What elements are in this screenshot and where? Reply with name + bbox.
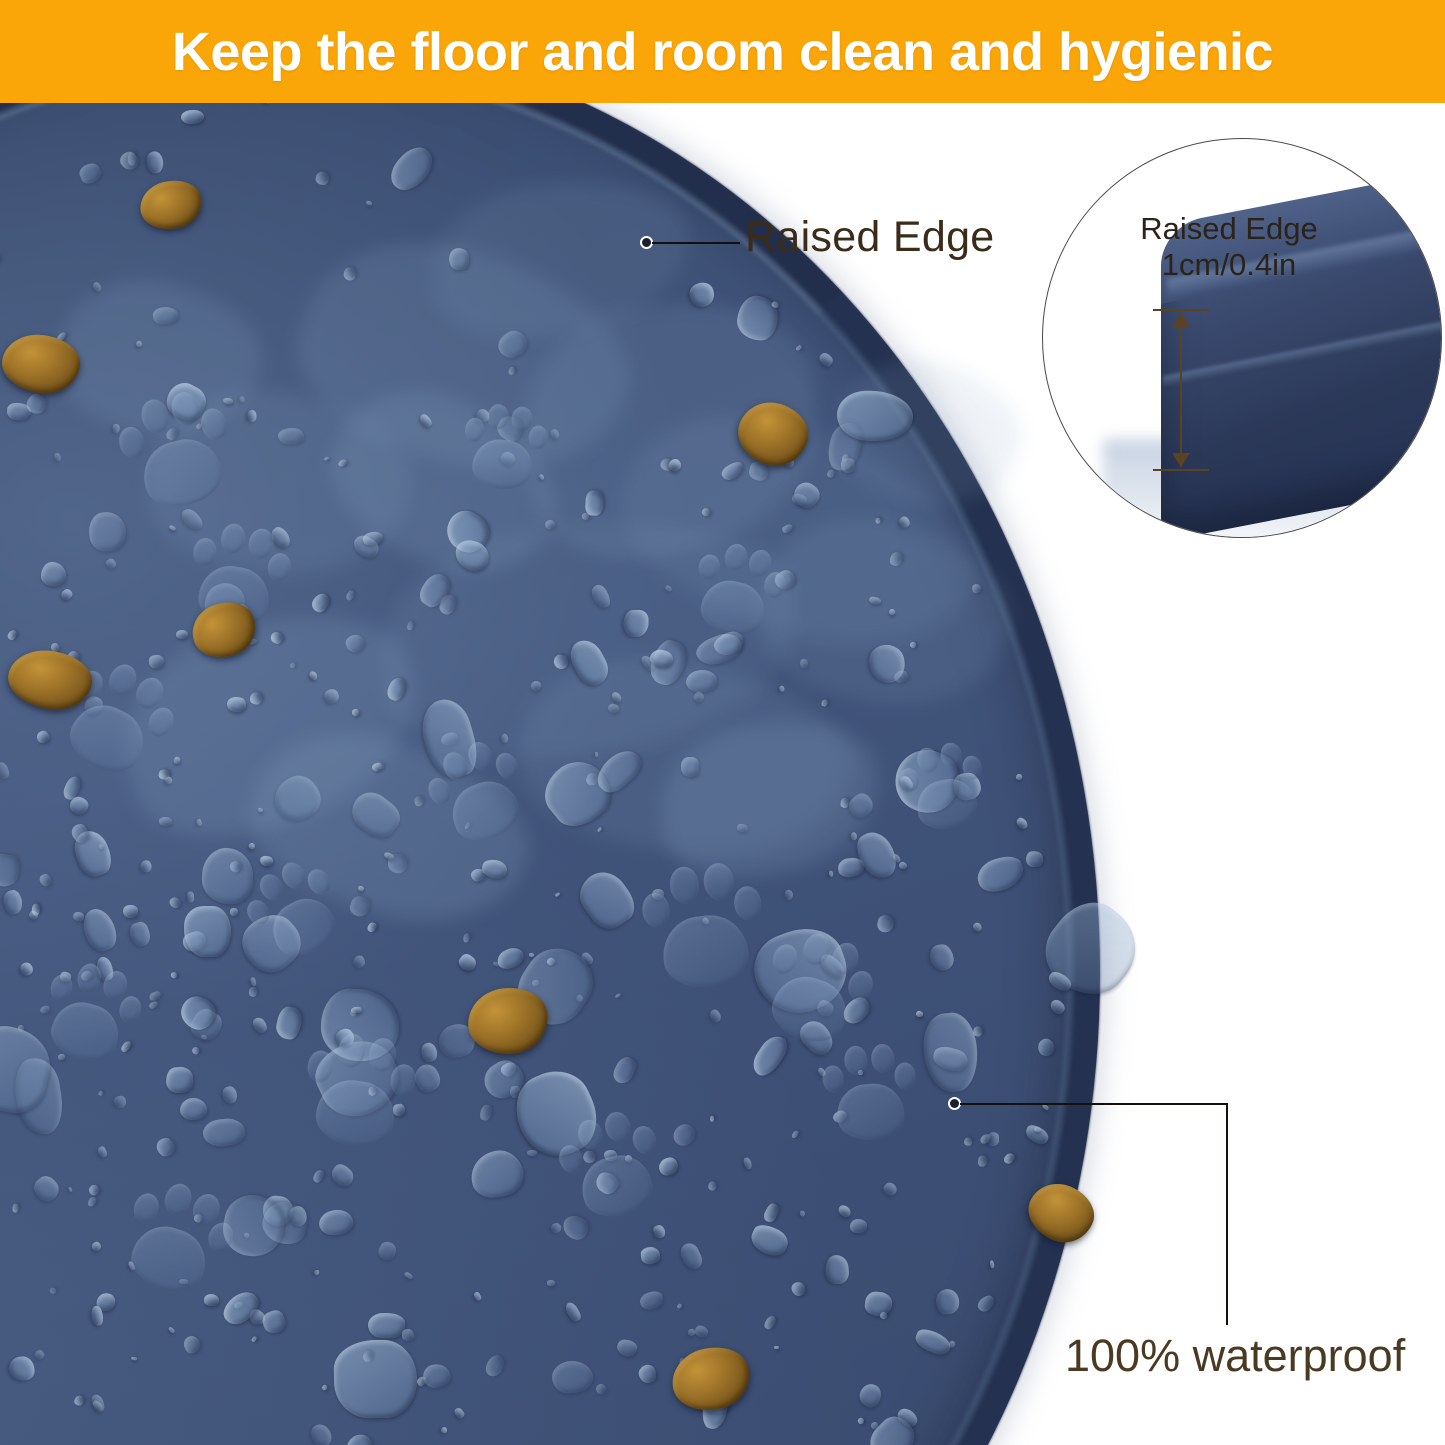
paw-toe-pad [265,551,292,583]
inset-caption-measurement: 1cm/0.4in [1089,247,1369,283]
paw-toe-pad [668,866,702,906]
water-droplet [681,757,700,777]
water-droplet [343,267,355,280]
water-droplet [164,1065,193,1093]
paw-toe-pad [439,748,471,783]
paw-main-pad [136,432,227,514]
paw-toe-pad [130,1190,163,1226]
raised-edge-detail-inset: Raised Edge 1cm/0.4in [1042,138,1442,538]
paw-toe-pad [116,993,144,1025]
water-droplet [595,752,598,757]
waterproof-label: 100% waterproof [1065,1330,1405,1382]
water-droplet [875,517,880,523]
paw-main-pad [46,996,125,1068]
water-droplet [799,658,808,668]
headline-banner: Keep the floor and room clean and hygien… [0,0,1445,103]
water-droplet [828,870,833,877]
paw-toe-pad [218,522,248,556]
paw-toe-pad [389,1063,418,1098]
paw-toe-pad [168,389,203,428]
paw-toe-pad [556,1142,586,1176]
water-droplet [98,1090,103,1096]
paw-toe-pad [799,930,834,968]
water-droplet [778,685,784,692]
water-droplet [368,1313,405,1338]
dimension-arrowhead-down [1172,453,1190,467]
paw-toe-pad [528,425,550,451]
paw-toe-pad [769,941,801,977]
paw-toe-pad [116,424,148,461]
water-droplet [547,1280,555,1286]
paw-toe-pad [602,1109,634,1145]
paw-print-emboss [633,857,773,1007]
dimension-tick-bottom [1153,469,1209,471]
dimension-arrow [1153,309,1213,471]
paw-toe-pad [336,1032,368,1069]
headline-text: Keep the floor and room clean and hygien… [172,21,1273,83]
paw-toe-pad [821,1065,844,1093]
paw-toe-pad [74,961,104,995]
paw-print-emboss [816,1040,922,1155]
inset-caption: Raised Edge 1cm/0.4in [1089,211,1369,283]
paw-main-pad [61,694,155,782]
paw-toe-pad [843,1045,868,1075]
paw-main-pad [312,1076,398,1151]
paw-toe-pad [893,1061,916,1089]
paw-toe-pad [938,740,964,769]
water-droplet [414,796,423,806]
paw-toe-pad [574,1117,606,1153]
waterproof-leader-line-horizontal [960,1103,1228,1105]
water-droplet [334,1340,418,1420]
water-droplet [849,1219,866,1233]
paw-toe-pad [898,766,922,793]
paw-main-pad [835,1082,905,1142]
water-droplet [247,410,256,422]
paw-main-pad [124,1217,215,1301]
paw-toe-pad [732,884,763,921]
paw-toe-pad [191,536,218,568]
raised-edge-label: Raised Edge [745,213,995,262]
paw-main-pad [575,1148,659,1224]
water-droplet [401,1328,413,1340]
paw-main-pad [765,968,855,1050]
paw-main-pad [696,575,770,641]
paw-main-pad [444,773,527,850]
paw-toe-pad [138,397,173,436]
dimension-shaft [1180,313,1182,467]
paw-main-pad [471,437,535,493]
paw-toe-pad [306,1049,335,1084]
paw-toe-pad [510,405,533,433]
paw-toe-pad [870,1043,895,1073]
dimension-arrowhead-up [1172,313,1190,327]
product-image: Keep the floor and room clean and hygien… [0,0,1445,1445]
water-droplet [187,892,195,903]
paw-toe-pad [702,862,736,902]
paw-toe-pad [198,406,230,443]
paw-toe-pad [160,1180,195,1219]
paw-toe-pad [464,738,496,773]
raised-edge-leader-line [652,242,740,244]
paw-toe-pad [696,552,722,582]
paw-toe-pad [47,971,75,1003]
water-droplet [159,817,172,826]
dimension-tick-top [1153,309,1209,311]
paw-toe-pad [629,1123,659,1157]
water-droplet [964,1137,972,1145]
paw-main-pad [913,774,981,835]
paw-toe-pad [424,774,454,807]
paw-toe-pad [961,754,985,781]
paw-toe-pad [721,541,749,573]
paw-toe-pad [640,892,671,929]
waterproof-leader-line-vertical [1226,1103,1228,1325]
inset-caption-title: Raised Edge [1089,211,1369,247]
paw-print-emboss [455,399,553,504]
paw-toe-pad [915,745,941,774]
paw-main-pad [659,912,751,992]
water-droplet [184,905,232,956]
paw-toe-pad [762,570,788,600]
paw-toe-pad [464,416,486,442]
paw-print-emboss [292,1026,424,1167]
paw-toe-pad [486,403,509,431]
